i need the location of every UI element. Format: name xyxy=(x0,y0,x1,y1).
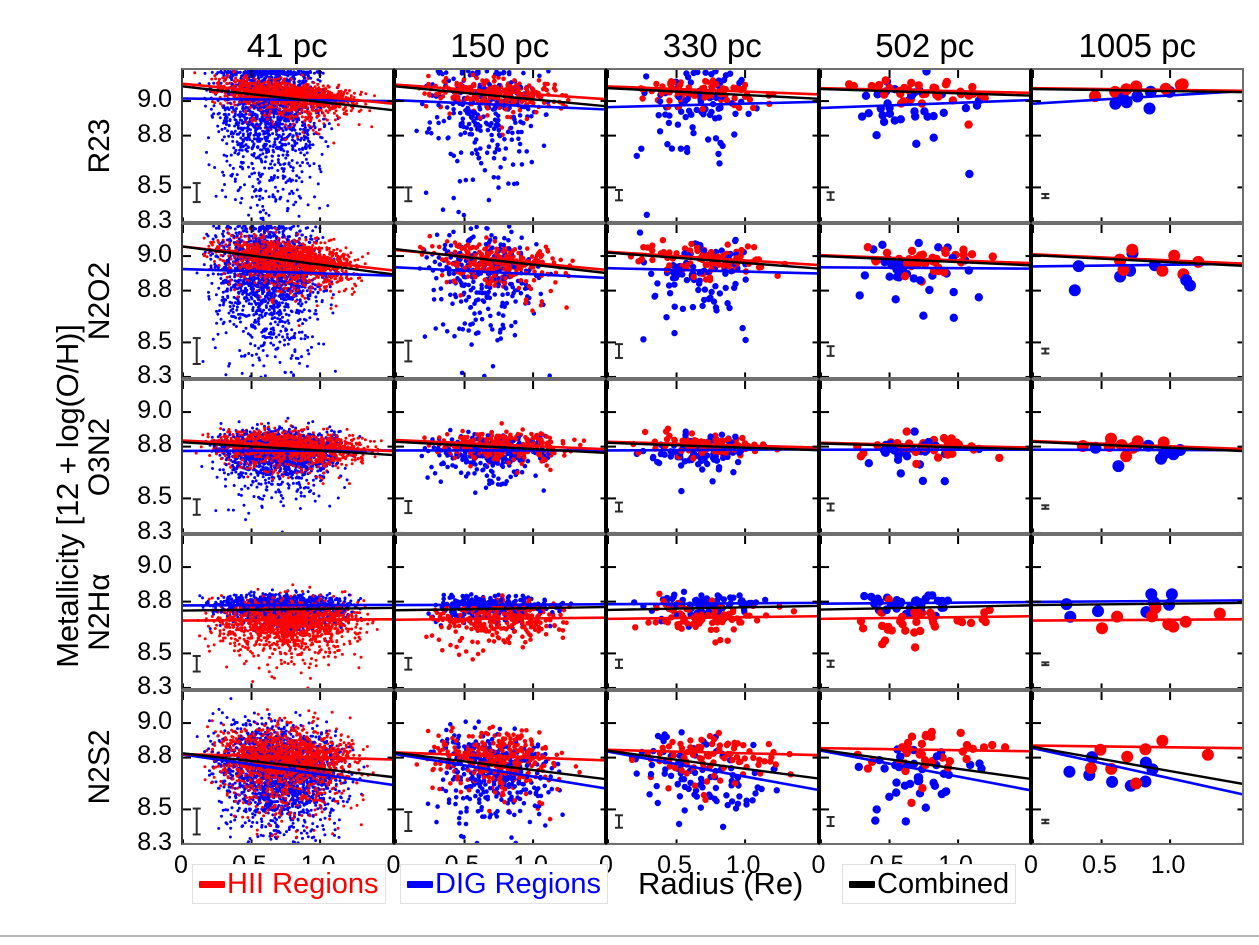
y-tick-0-1: 8.8 xyxy=(110,120,172,148)
error-bar xyxy=(1041,349,1049,354)
error-bar xyxy=(193,808,201,834)
panel-N2O2-1 xyxy=(394,223,607,378)
error-bar xyxy=(615,190,623,200)
combined-fit-line xyxy=(821,749,1032,778)
y-tick-4-2: 8.5 xyxy=(110,793,172,821)
error-bar xyxy=(826,503,834,510)
y-tick-4-1: 8.8 xyxy=(110,741,172,769)
y-tick-0-2: 8.5 xyxy=(110,171,172,199)
y-tick-4-0: 9.0 xyxy=(110,707,172,735)
panel-N2S2-4 xyxy=(1031,690,1244,845)
panel-N2S2-3 xyxy=(819,690,1032,845)
column-header-1: 150 pc xyxy=(394,24,607,68)
panel-N2H-2 xyxy=(606,534,819,689)
panel-R23-1 xyxy=(394,68,607,223)
x-tick-4-2: 1.0 xyxy=(1145,851,1191,879)
y-tick-3-3: 8.3 xyxy=(110,672,172,700)
y-tick-3-0: 9.0 xyxy=(110,551,172,579)
panel-N2S2-2 xyxy=(606,690,819,845)
panel-N2H-0 xyxy=(181,534,394,689)
panel-N2O2-3 xyxy=(819,223,1032,378)
panel-ticks xyxy=(1033,536,1244,689)
y-tick-1-3: 8.3 xyxy=(110,361,172,389)
panel-O3N2-3 xyxy=(819,379,1032,534)
y-tick-1-1: 8.8 xyxy=(110,275,172,303)
error-bar xyxy=(826,817,834,826)
hii-fit-line xyxy=(1033,745,1244,748)
error-bar xyxy=(615,660,623,668)
legend-hii-swatch xyxy=(199,881,225,888)
hii-fit-line xyxy=(821,616,1032,619)
y-tick-2-0: 9.0 xyxy=(110,396,172,424)
error-bar xyxy=(193,499,201,515)
legend-combined: Combined xyxy=(842,864,1016,904)
x-tick-4-1: 0.5 xyxy=(1077,851,1123,879)
column-header-4: 1005 pc xyxy=(1031,24,1244,68)
error-bar xyxy=(404,501,412,513)
panel-ticks xyxy=(821,225,1032,378)
combined-fit-line xyxy=(821,605,1032,609)
panel-N2S2-0 xyxy=(181,690,394,845)
column-header-2: 330 pc xyxy=(606,24,819,68)
panel-R23-2 xyxy=(606,68,819,223)
dig-fit-line xyxy=(821,268,1032,269)
error-bar xyxy=(1041,819,1049,822)
hii-fit-line xyxy=(396,618,607,620)
panel-R23-0 xyxy=(181,68,394,223)
panel-N2H-3 xyxy=(819,534,1032,689)
error-bar xyxy=(615,502,623,511)
error-bar xyxy=(615,815,623,827)
panel-ticks xyxy=(608,692,819,845)
dig-fit-line xyxy=(396,604,607,605)
error-bar xyxy=(193,656,201,672)
panel-R23-4 xyxy=(1031,68,1244,223)
dig-fit-line xyxy=(608,603,819,604)
error-bar xyxy=(404,187,412,201)
y-tick-1-2: 8.5 xyxy=(110,327,172,355)
error-bar xyxy=(404,341,412,362)
panel-N2H-4 xyxy=(1031,534,1244,689)
panel-O3N2-0 xyxy=(181,379,394,534)
hii-fit-line xyxy=(821,748,1032,751)
column-header-0: 41 pc xyxy=(181,24,394,68)
combined-fit-line xyxy=(396,607,607,610)
panel-ticks xyxy=(1033,381,1244,534)
error-bar xyxy=(826,661,834,667)
panel-O3N2-4 xyxy=(1031,379,1244,534)
y-tick-0-0: 9.0 xyxy=(110,85,172,113)
panel-N2S2-1 xyxy=(394,690,607,845)
legend-combined-swatch xyxy=(849,881,875,888)
metallicity-gradient-figure: Metallicity [12 + log(O/H)] 41 pc150 pc3… xyxy=(0,0,1259,945)
dig-fit-line xyxy=(821,100,1032,108)
y-tick-1-0: 9.0 xyxy=(110,240,172,268)
error-bar xyxy=(826,347,834,357)
y-tick-0-3: 8.3 xyxy=(110,206,172,234)
hii-fit-line xyxy=(608,616,819,619)
error-bar xyxy=(193,338,201,364)
hii-fit-line xyxy=(183,619,394,620)
legend-hii-regions: HII Regions xyxy=(192,864,386,904)
hii-fit-line xyxy=(1033,619,1244,620)
y-tick-2-3: 8.3 xyxy=(110,517,172,545)
y-tick-3-1: 8.8 xyxy=(110,586,172,614)
panel-O3N2-2 xyxy=(606,379,819,534)
x-axis-label: Radius (Re) xyxy=(638,864,803,904)
error-bar xyxy=(826,192,834,200)
panel-N2O2-0 xyxy=(181,223,394,378)
figure-bottom-rule xyxy=(0,935,1259,937)
y-tick-3-2: 8.5 xyxy=(110,638,172,666)
legend-dig-swatch xyxy=(407,881,433,888)
column-header-3: 502 pc xyxy=(819,24,1032,68)
legend-dig-regions: DIG Regions xyxy=(400,864,608,904)
panel-N2O2-2 xyxy=(606,223,819,378)
panel-ticks xyxy=(1033,225,1244,378)
panel-O3N2-1 xyxy=(394,379,607,534)
error-bar xyxy=(615,345,623,359)
error-bar xyxy=(1041,505,1049,508)
dig-points-front xyxy=(634,428,768,494)
y-tick-2-1: 8.8 xyxy=(110,430,172,458)
dig-fit-line xyxy=(183,605,394,606)
panel-N2O2-4 xyxy=(1031,223,1244,378)
panel-R23-3 xyxy=(819,68,1032,223)
error-bar xyxy=(1041,194,1049,198)
dig-fit-line xyxy=(821,602,1032,604)
legend-dig-label: DIG Regions xyxy=(435,870,601,899)
error-bar xyxy=(193,183,201,202)
legend-hii-label: HII Regions xyxy=(227,870,379,899)
dig-fit-line xyxy=(1033,601,1244,603)
y-tick-2-2: 8.5 xyxy=(110,482,172,510)
legend-combined-label: Combined xyxy=(877,870,1009,899)
error-bar xyxy=(1041,663,1049,666)
error-bar xyxy=(404,812,412,831)
error-bar xyxy=(404,658,412,670)
dig-fit-line xyxy=(608,751,819,790)
panel-N2H-1 xyxy=(394,534,607,689)
